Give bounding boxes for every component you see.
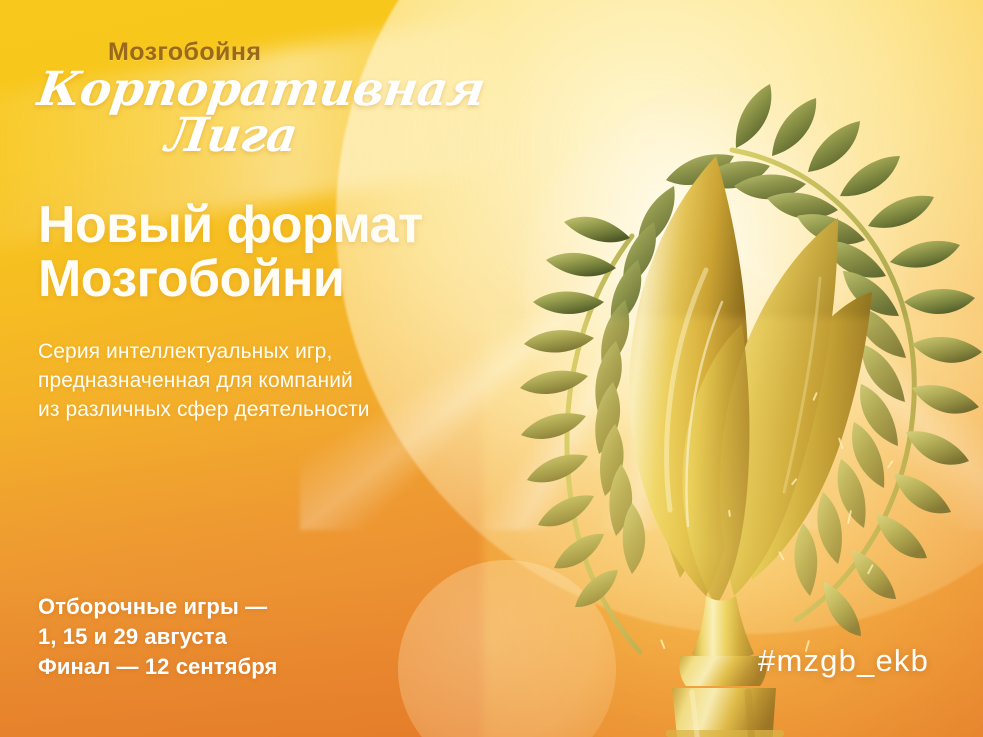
- subtitle-line-1: Серия интеллектуальных игр,: [38, 338, 498, 367]
- page-title: Новый формат Мозгобойни: [38, 198, 508, 306]
- subtitle: Серия интеллектуальных игр, предназначен…: [38, 338, 498, 425]
- subtitle-line-3: из различных сфер деятельности: [38, 396, 498, 425]
- dates-line-2: 1, 15 и 29 августа: [38, 622, 438, 652]
- subtitle-line-2: предназначенная для компаний: [38, 367, 498, 396]
- dates-line-1: Отборочные игры —: [38, 592, 438, 622]
- headline-line-2: Мозгобойни: [38, 252, 508, 306]
- logo-script-line-1: Корпоративная: [35, 69, 461, 111]
- hashtag: #mzgb_ekb: [758, 643, 929, 679]
- dates-line-3: Финал — 12 сентября: [38, 652, 438, 682]
- promo-poster: Мозгобойня Корпоративная Лига Новый форм…: [0, 0, 983, 737]
- gold-trophy-icon: [520, 40, 940, 737]
- brand-logo: Мозгобойня Корпоративная Лига: [38, 38, 458, 158]
- event-dates: Отборочные игры — 1, 15 и 29 августа Фин…: [38, 592, 438, 682]
- headline-line-1: Новый формат: [38, 198, 508, 252]
- logo-script-line-2: Лига: [163, 115, 461, 157]
- logo-script-title: Корпоративная Лига: [38, 69, 458, 158]
